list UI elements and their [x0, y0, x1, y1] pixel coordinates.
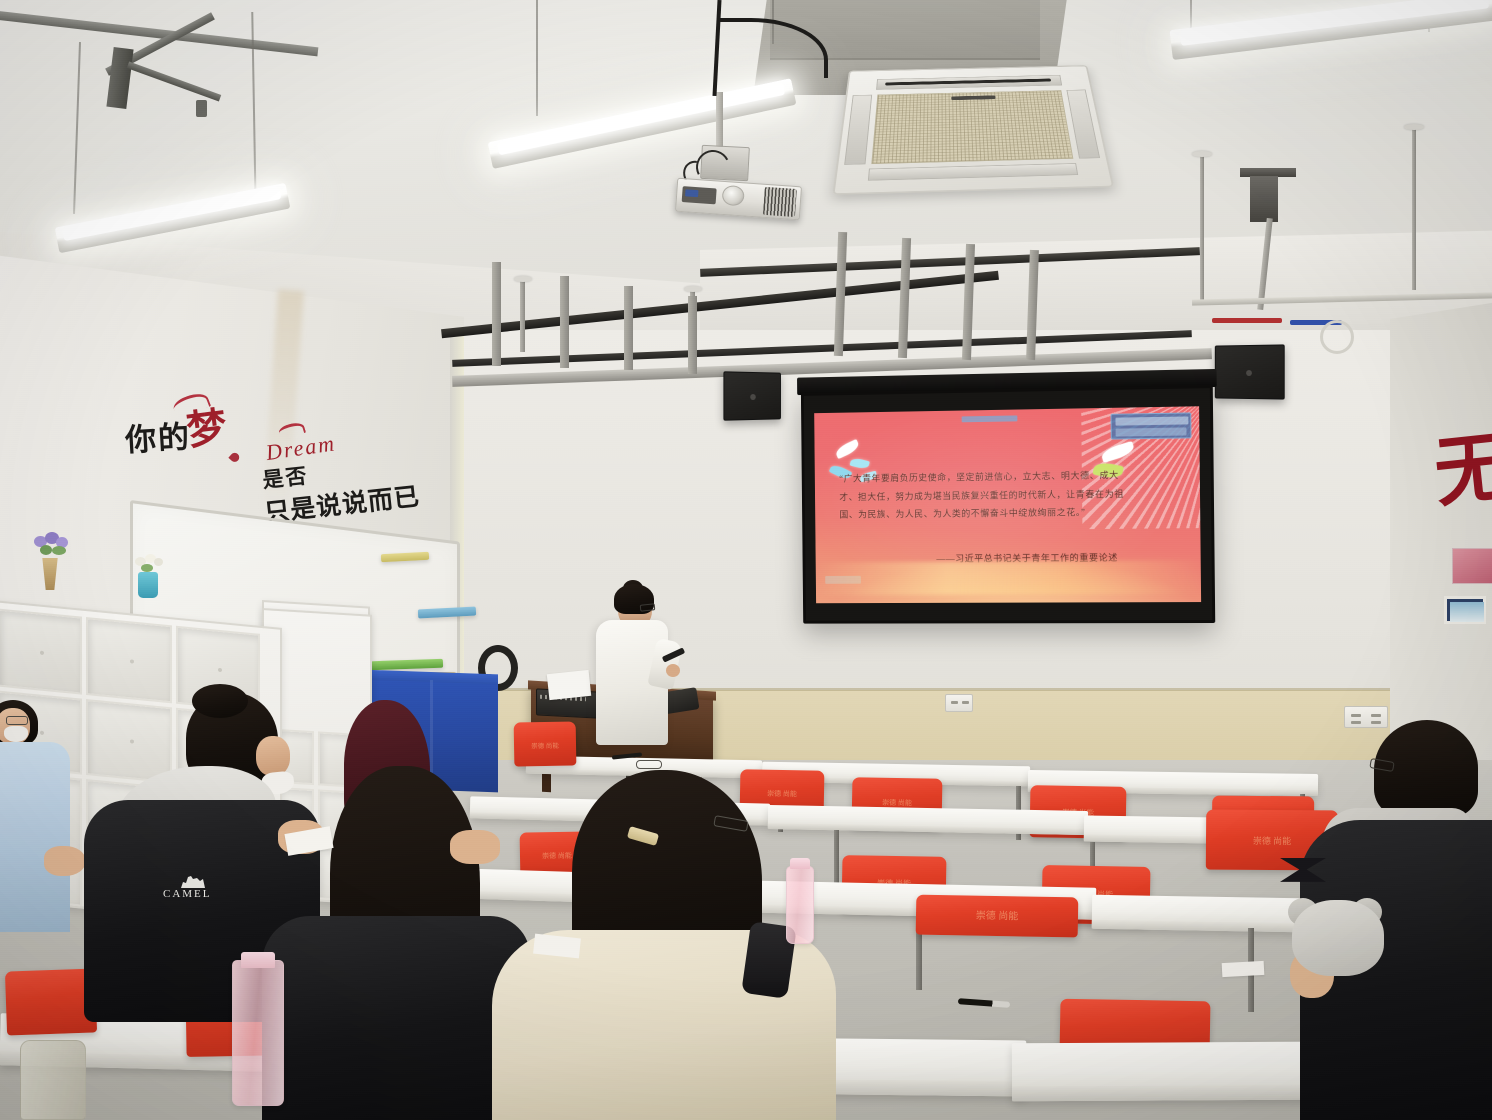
flower-arrangement-purple: [30, 532, 72, 562]
student-hair-bun: [192, 684, 248, 718]
student-ear-cheek: [256, 736, 290, 776]
pipe-valve-red: [1212, 318, 1282, 323]
wall-socket[interactable]: [1344, 706, 1388, 728]
instructor-hand: [666, 664, 680, 677]
ac-filter-grille: [871, 90, 1073, 164]
wall-pipe-loop: [1320, 320, 1354, 354]
student-hand: [450, 830, 500, 864]
chair-label: 崇德 尚能: [767, 789, 797, 800]
face-mask: [4, 726, 28, 742]
chair-label: 崇德 尚能: [976, 907, 1019, 923]
plush-toy: [1292, 900, 1384, 976]
pipe-hanger-plate: [514, 276, 532, 282]
drape-fold: [430, 680, 433, 784]
picture-frame-pink: [1452, 548, 1492, 584]
pipe-hanger-plate: [1404, 124, 1424, 130]
projection-screen[interactable]: “广大青年要肩负历史使命，坚定前进信心，立大志、明大德、成大才、担大任，努力成为…: [801, 385, 1215, 624]
wall-decal-character: 无: [1428, 404, 1492, 521]
light-hang-wire: [1190, 0, 1192, 28]
chair-label: 崇德 尚能: [1253, 834, 1291, 847]
pipe-hanger-rod: [1200, 155, 1204, 303]
slide-popup-dialog[interactable]: [1111, 412, 1192, 439]
pipe-hanger-plate: [1192, 151, 1212, 157]
ceiling-rail-arm-tip: [196, 100, 207, 117]
wall-support-rod: [492, 262, 501, 366]
student-glasses: [6, 716, 28, 725]
picture-frame-blue: [1444, 596, 1486, 624]
slide-canvas: “广大青年要肩负历史使命，坚定前进信心，立大志、明大德、成大才、担大任，努力成为…: [814, 406, 1201, 603]
student-jacket: [0, 742, 70, 932]
slide-quote-text: “广大青年要肩负历史使命，坚定前进信心，立大志、明大德、成大才、担大任，努力成为…: [839, 467, 1127, 525]
heart-decal-icon: [228, 451, 241, 464]
popup-row: [1115, 416, 1188, 425]
thermos-cup[interactable]: [20, 1040, 86, 1120]
wall-support-rod: [560, 276, 569, 368]
wall-support-rod: [624, 286, 633, 370]
slide-title-bar: [962, 415, 1018, 422]
podium-paper: [547, 670, 591, 700]
projector-pole: [716, 92, 723, 150]
chair[interactable]: 崇德 尚能: [514, 721, 577, 766]
teal-pitcher-vase: [138, 572, 158, 598]
eyeglasses-on-desk[interactable]: [636, 760, 662, 769]
flower-arrangement-white: [133, 552, 165, 574]
pipe-bracket-arm: [1250, 176, 1278, 222]
slide-sunset-band: [816, 560, 1201, 595]
projector-vent: [763, 187, 797, 217]
picture-frame-image: [1450, 602, 1484, 622]
pipe-hanger-plate: [684, 286, 702, 292]
air-conditioner-unit: [832, 65, 1114, 195]
wall-decal-word-1: 你的: [124, 411, 192, 460]
popup-row: [1116, 427, 1187, 436]
water-bottle[interactable]: [232, 960, 284, 1106]
water-bottle[interactable]: [786, 866, 814, 944]
projector: [675, 172, 803, 227]
student-jacket: [262, 916, 530, 1120]
chair[interactable]: 崇德 尚能: [916, 895, 1079, 938]
pipe-hanger-rod: [520, 280, 525, 352]
projector-vga-port: [685, 189, 698, 197]
camel-brand-label: CAMEL: [163, 888, 212, 900]
light-hang-wire: [536, 0, 538, 116]
chair-label: 崇德 尚能: [542, 851, 572, 862]
dove-icon: [834, 439, 860, 459]
pipe-hanger-rod: [1412, 128, 1416, 290]
paper-sheet[interactable]: [1222, 961, 1265, 977]
dove-icon: [850, 457, 870, 470]
student-hand: [44, 846, 86, 876]
wall-socket[interactable]: [945, 694, 973, 712]
wall-decal-word-2: 梦: [183, 394, 230, 457]
chair-label: 崇德 尚能: [531, 739, 559, 749]
classroom-photo: 你的 梦 Dream 是否 只是说说而已 无 “广大青年要肩负历史使命，坚定前进…: [0, 0, 1492, 1120]
wall-speaker-right: [1215, 344, 1285, 399]
wall-support-rod: [688, 296, 697, 374]
wall-speaker-left: [723, 371, 781, 420]
